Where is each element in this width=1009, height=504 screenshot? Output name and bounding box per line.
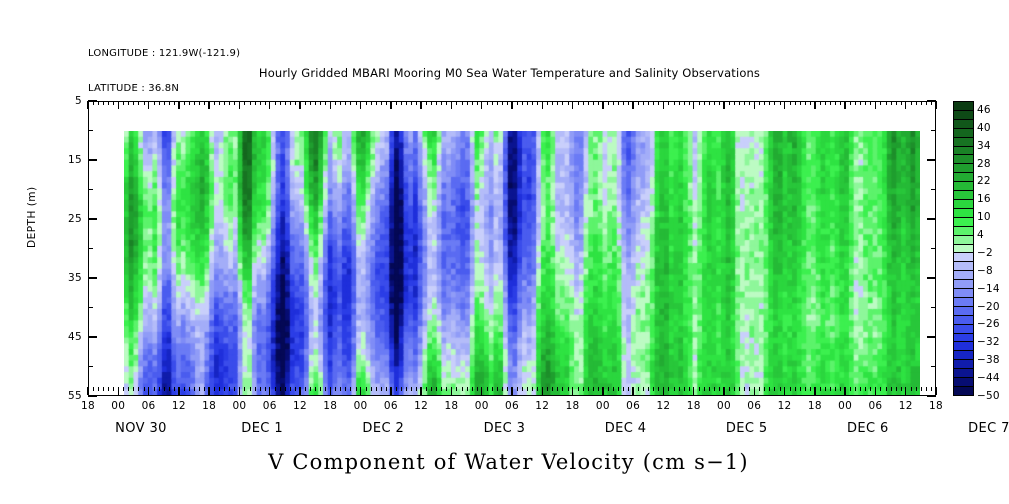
x-axis-hour-label: 00 [354, 400, 368, 412]
x-tick-minor [729, 387, 730, 391]
colorbar-tick-label: −26 [977, 318, 1000, 330]
x-tick-minor [658, 387, 659, 391]
colorbar-swatch [954, 102, 973, 111]
x-tick-minor [133, 387, 134, 391]
x-tick-minor [568, 101, 569, 105]
x-tick-minor [749, 387, 750, 391]
x-tick-minor [275, 387, 276, 391]
x-axis-hour-label: 00 [475, 400, 489, 412]
x-tick-major [239, 101, 240, 109]
y-tick-major [927, 277, 936, 278]
x-tick-minor [593, 101, 594, 105]
x-tick-minor [446, 101, 447, 105]
x-tick-minor [356, 101, 357, 105]
x-tick-minor [386, 387, 387, 391]
colorbar-swatch [954, 227, 973, 236]
colorbar-tick-label: −2 [977, 247, 993, 259]
x-axis-hour-label: 12 [535, 400, 549, 412]
colorbar-swatch [954, 280, 973, 289]
colorbar-swatch [954, 334, 973, 343]
x-tick-minor [108, 387, 109, 391]
x-tick-minor [855, 387, 856, 391]
x-tick-minor [477, 101, 478, 105]
colorbar-tick-label: 40 [977, 122, 991, 134]
x-tick-minor [739, 101, 740, 105]
colorbar-tick-label: 10 [977, 211, 991, 223]
x-tick-minor [774, 101, 775, 105]
y-tick-minor [931, 366, 936, 367]
x-axis-hour-label: 06 [263, 400, 277, 412]
x-tick-minor [214, 101, 215, 105]
x-tick-minor [704, 387, 705, 391]
colorbar-swatch [954, 173, 973, 182]
x-axis-hour-label: 12 [293, 400, 307, 412]
x-tick-minor [568, 387, 569, 391]
x-tick-major [208, 101, 209, 109]
x-tick-minor [502, 101, 503, 105]
x-tick-minor [613, 101, 614, 105]
x-tick-major [420, 101, 421, 109]
x-tick-minor [406, 387, 407, 391]
x-tick-major [360, 387, 361, 395]
y-tick-minor [88, 307, 93, 308]
x-tick-minor [345, 387, 346, 391]
x-tick-minor [896, 387, 897, 391]
colorbar-swatch [954, 182, 973, 191]
x-tick-minor [709, 387, 710, 391]
x-tick-major [572, 101, 573, 109]
x-tick-minor [800, 101, 801, 105]
x-tick-minor [850, 101, 851, 105]
y-axis-value-label: 15 [56, 154, 82, 166]
x-tick-minor [366, 387, 367, 391]
y-tick-minor [88, 248, 93, 249]
x-tick-minor [860, 387, 861, 391]
x-tick-minor [658, 101, 659, 105]
x-tick-minor [381, 101, 382, 105]
x-tick-minor [835, 387, 836, 391]
x-tick-minor [769, 101, 770, 105]
x-axis-ticks-bottom [88, 387, 936, 397]
x-tick-minor [184, 387, 185, 391]
x-tick-major [511, 101, 512, 109]
x-tick-major [875, 387, 876, 395]
x-tick-minor [557, 101, 558, 105]
x-tick-minor [805, 101, 806, 105]
x-tick-minor [154, 387, 155, 391]
x-tick-minor [219, 387, 220, 391]
x-tick-minor [911, 387, 912, 391]
x-tick-minor [618, 387, 619, 391]
y-axis-ticks-left [88, 101, 100, 396]
x-tick-minor [401, 387, 402, 391]
x-axis-hour-label: 00 [232, 400, 246, 412]
x-tick-minor [356, 387, 357, 391]
x-tick-major [542, 387, 543, 395]
x-tick-minor [189, 387, 190, 391]
x-tick-minor [224, 387, 225, 391]
x-tick-major [178, 387, 179, 395]
x-tick-minor [128, 101, 129, 105]
y-tick-minor [88, 130, 93, 131]
colorbar-swatch [954, 236, 973, 245]
x-tick-minor [840, 387, 841, 391]
x-tick-minor [320, 387, 321, 391]
x-tick-minor [623, 387, 624, 391]
x-tick-minor [578, 387, 579, 391]
x-tick-minor [921, 387, 922, 391]
x-tick-minor [855, 101, 856, 105]
x-tick-minor [537, 387, 538, 391]
x-tick-minor [305, 387, 306, 391]
x-tick-minor [810, 387, 811, 391]
x-tick-minor [108, 101, 109, 105]
x-tick-minor [608, 387, 609, 391]
x-tick-minor [340, 101, 341, 105]
x-axis-day-label: DEC 1 [241, 421, 283, 436]
colorbar-tick-label: −20 [977, 301, 1000, 313]
x-tick-minor [835, 101, 836, 105]
x-tick-minor [113, 387, 114, 391]
y-axis-value-label: 25 [56, 213, 82, 225]
x-tick-major [511, 387, 512, 395]
x-tick-minor [653, 101, 654, 105]
y-tick-minor [931, 189, 936, 190]
y-tick-minor [88, 189, 93, 190]
x-tick-minor [345, 101, 346, 105]
x-tick-minor [138, 387, 139, 391]
x-tick-minor [416, 387, 417, 391]
x-tick-major [784, 387, 785, 395]
x-tick-major [118, 101, 119, 109]
x-tick-minor [128, 387, 129, 391]
x-tick-major [723, 101, 724, 109]
x-tick-minor [487, 387, 488, 391]
x-tick-minor [522, 101, 523, 105]
x-tick-minor [144, 101, 145, 105]
colorbar-swatch [954, 245, 973, 254]
x-tick-minor [350, 387, 351, 391]
x-tick-minor [668, 387, 669, 391]
x-tick-minor [684, 101, 685, 105]
x-tick-minor [668, 101, 669, 105]
colorbar-swatch [954, 369, 973, 378]
x-tick-minor [719, 101, 720, 105]
x-tick-minor [310, 387, 311, 391]
x-tick-minor [880, 387, 881, 391]
x-tick-minor [487, 101, 488, 105]
colorbar-swatch [954, 289, 973, 298]
x-tick-minor [396, 101, 397, 105]
x-tick-minor [472, 101, 473, 105]
x-axis-day-label: DEC 5 [726, 421, 768, 436]
x-tick-minor [280, 387, 281, 391]
x-tick-minor [320, 101, 321, 105]
x-tick-minor [719, 387, 720, 391]
x-tick-major [239, 387, 240, 395]
x-tick-minor [790, 101, 791, 105]
y-axis-value-label: 35 [56, 272, 82, 284]
x-tick-minor [532, 101, 533, 105]
colorbar-tick-label: −32 [977, 336, 1000, 348]
y-axis-value-label: 5 [56, 95, 82, 107]
x-tick-minor [194, 101, 195, 105]
x-tick-minor [911, 101, 912, 105]
x-tick-minor [739, 387, 740, 391]
x-tick-minor [744, 387, 745, 391]
x-tick-major [118, 387, 119, 395]
x-tick-minor [416, 101, 417, 105]
colorbar-swatch [954, 307, 973, 316]
x-tick-minor [492, 387, 493, 391]
colorbar-swatch [954, 360, 973, 369]
x-tick-minor [764, 387, 765, 391]
x-tick-minor [446, 387, 447, 391]
x-axis-hour-label: 06 [505, 400, 519, 412]
x-tick-major [178, 101, 179, 109]
x-axis-hour-label: 00 [838, 400, 852, 412]
x-tick-minor [704, 101, 705, 105]
x-tick-major [754, 101, 755, 109]
x-tick-minor [699, 387, 700, 391]
x-tick-minor [674, 101, 675, 105]
x-tick-minor [759, 101, 760, 105]
x-axis-hour-label: 06 [142, 400, 156, 412]
x-tick-minor [234, 101, 235, 105]
y-tick-major [88, 100, 97, 101]
x-tick-minor [462, 101, 463, 105]
y-axis-ticks-right [924, 101, 936, 396]
x-tick-minor [865, 387, 866, 391]
x-tick-minor [194, 387, 195, 391]
x-tick-minor [800, 387, 801, 391]
x-tick-minor [204, 387, 205, 391]
x-tick-minor [467, 101, 468, 105]
x-tick-minor [164, 101, 165, 105]
x-tick-major [844, 101, 845, 109]
chart-title: Hourly Gridded MBARI Mooring M0 Sea Wate… [0, 66, 1009, 80]
colorbar-tick-label: 46 [977, 104, 991, 116]
x-axis-hour-label: 00 [111, 400, 125, 412]
x-tick-minor [916, 101, 917, 105]
colorbar-tick-label: −50 [977, 390, 1000, 402]
y-tick-major [927, 159, 936, 160]
x-tick-minor [477, 387, 478, 391]
colorbar-tick-label: −44 [977, 372, 1000, 384]
x-tick-minor [255, 101, 256, 105]
colorbar-tick-label: 22 [977, 175, 991, 187]
x-tick-minor [734, 387, 735, 391]
x-tick-major [602, 387, 603, 395]
x-tick-minor [234, 387, 235, 391]
x-tick-minor [896, 101, 897, 105]
x-tick-minor [795, 101, 796, 105]
x-tick-minor [280, 101, 281, 105]
colorbar-swatch [954, 316, 973, 325]
x-tick-minor [780, 387, 781, 391]
x-tick-minor [714, 387, 715, 391]
x-axis-hour-label: 18 [81, 400, 95, 412]
x-tick-minor [255, 387, 256, 391]
x-tick-minor [169, 387, 170, 391]
x-tick-minor [366, 101, 367, 105]
x-tick-minor [411, 387, 412, 391]
x-tick-minor [335, 101, 336, 105]
x-tick-minor [532, 387, 533, 391]
x-tick-minor [159, 387, 160, 391]
x-tick-minor [795, 387, 796, 391]
x-tick-minor [830, 387, 831, 391]
x-tick-minor [290, 101, 291, 105]
x-tick-minor [583, 101, 584, 105]
y-tick-major [88, 159, 97, 160]
x-tick-minor [547, 387, 548, 391]
x-tick-minor [159, 101, 160, 105]
x-axis-day-label: NOV 30 [115, 421, 167, 436]
x-tick-major [754, 387, 755, 395]
x-axis-hour-label: 18 [566, 400, 580, 412]
x-tick-minor [638, 101, 639, 105]
x-tick-minor [376, 101, 377, 105]
x-tick-major [330, 101, 331, 109]
x-tick-major [723, 387, 724, 395]
x-tick-minor [562, 101, 563, 105]
x-tick-minor [386, 101, 387, 105]
y-tick-major [88, 218, 97, 219]
x-tick-minor [497, 387, 498, 391]
x-tick-minor [169, 101, 170, 105]
x-tick-minor [734, 101, 735, 105]
x-axis-day-label: DEC 6 [847, 421, 889, 436]
x-tick-minor [825, 387, 826, 391]
colorbar-swatch [954, 342, 973, 351]
x-tick-minor [431, 387, 432, 391]
colorbar-tick-label: −8 [977, 265, 993, 277]
x-tick-major [632, 387, 633, 395]
y-tick-minor [931, 130, 936, 131]
colorbar-tick-label: −38 [977, 354, 1000, 366]
x-tick-minor [103, 387, 104, 391]
x-tick-minor [113, 101, 114, 105]
x-axis-hour-label: 00 [717, 400, 731, 412]
x-tick-minor [891, 101, 892, 105]
x-tick-minor [744, 101, 745, 105]
x-tick-minor [441, 101, 442, 105]
x-tick-minor [350, 101, 351, 105]
colorbar-swatch [954, 138, 973, 147]
x-tick-minor [628, 101, 629, 105]
y-axis-title: DEPTH (m) [26, 186, 38, 248]
x-tick-minor [436, 101, 437, 105]
x-tick-minor [613, 387, 614, 391]
x-tick-minor [880, 101, 881, 105]
x-tick-minor [290, 387, 291, 391]
x-tick-minor [426, 101, 427, 105]
x-axis-hour-label: 00 [596, 400, 610, 412]
x-tick-minor [265, 387, 266, 391]
x-tick-minor [371, 387, 372, 391]
x-tick-minor [265, 101, 266, 105]
x-axis-hour-label: 12 [778, 400, 792, 412]
x-tick-major [481, 101, 482, 109]
x-tick-major [299, 387, 300, 395]
x-tick-minor [310, 101, 311, 105]
colorbar-swatch [954, 351, 973, 360]
colorbar-swatch [954, 271, 973, 280]
x-tick-minor [780, 101, 781, 105]
x-tick-minor [840, 101, 841, 105]
x-tick-minor [401, 101, 402, 105]
x-tick-minor [250, 387, 251, 391]
x-axis-day-label: DEC 3 [484, 421, 526, 436]
x-tick-minor [295, 101, 296, 105]
x-tick-minor [189, 101, 190, 105]
x-tick-minor [275, 101, 276, 105]
y-tick-minor [931, 307, 936, 308]
x-tick-major [663, 387, 664, 395]
x-tick-minor [674, 387, 675, 391]
x-tick-minor [870, 387, 871, 391]
x-tick-minor [527, 101, 528, 105]
x-tick-minor [618, 101, 619, 105]
x-tick-major [693, 387, 694, 395]
x-tick-major [844, 387, 845, 395]
colorbar-swatch [954, 191, 973, 200]
x-tick-minor [830, 101, 831, 105]
x-tick-minor [462, 387, 463, 391]
x-tick-minor [497, 101, 498, 105]
colorbar-swatch [954, 147, 973, 156]
x-tick-minor [583, 387, 584, 391]
x-axis-hour-label: 06 [747, 400, 761, 412]
x-tick-minor [643, 101, 644, 105]
x-tick-minor [593, 387, 594, 391]
x-tick-minor [103, 101, 104, 105]
colorbar-tick-label: −14 [977, 283, 1000, 295]
colorbar-swatch [954, 378, 973, 387]
y-tick-major [88, 336, 97, 337]
x-tick-minor [552, 387, 553, 391]
colorbar-swatch [954, 262, 973, 271]
x-tick-minor [870, 101, 871, 105]
x-tick-minor [335, 387, 336, 391]
x-tick-minor [901, 101, 902, 105]
x-tick-major [451, 387, 452, 395]
y-tick-major [927, 218, 936, 219]
x-tick-minor [381, 387, 382, 391]
x-tick-minor [315, 387, 316, 391]
y-tick-minor [88, 366, 93, 367]
x-tick-minor [133, 101, 134, 105]
y-tick-minor [931, 248, 936, 249]
x-tick-minor [729, 101, 730, 105]
x-tick-minor [411, 101, 412, 105]
x-tick-minor [260, 101, 261, 105]
x-tick-major [420, 387, 421, 395]
x-tick-major [269, 387, 270, 395]
x-tick-minor [325, 101, 326, 105]
y-axis-value-label: 55 [56, 390, 82, 402]
x-tick-minor [431, 101, 432, 105]
x-axis-hour-label: 12 [172, 400, 186, 412]
chart-caption: V Component of Water Velocity (cm s−1) [0, 450, 1009, 474]
colorbar-swatch [954, 155, 973, 164]
x-tick-minor [214, 387, 215, 391]
colorbar-swatch [954, 200, 973, 209]
x-tick-major [875, 101, 876, 109]
x-axis-day-label: DEC 7 [968, 421, 1009, 436]
x-axis-hour-label: 12 [414, 400, 428, 412]
